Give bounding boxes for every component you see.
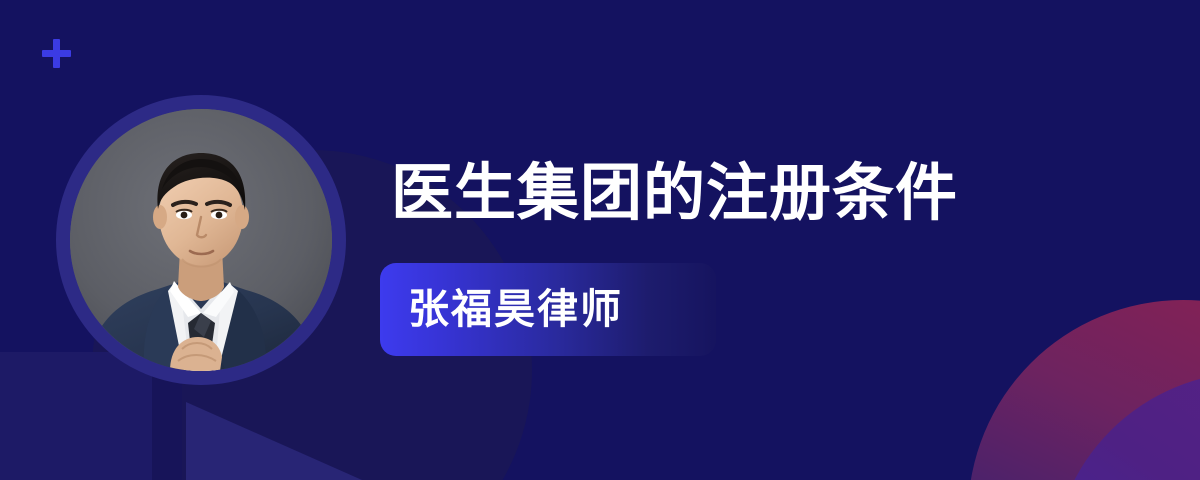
plus-icon-vertical-bar (53, 39, 60, 68)
decorative-band-left (0, 352, 152, 480)
avatar-portrait-illustration (70, 109, 332, 371)
plus-icon (42, 39, 71, 68)
page-title: 医生集团的注册条件 (391, 163, 958, 225)
speaker-badge: 张福昊律师 (380, 263, 716, 356)
banner-root: 医生集团的注册条件 张福昊律师 (0, 0, 1200, 480)
decorative-triangle (186, 402, 362, 480)
decorative-triangle-fill (186, 402, 362, 480)
speaker-name: 张福昊律师 (408, 289, 623, 330)
avatar (70, 109, 332, 371)
